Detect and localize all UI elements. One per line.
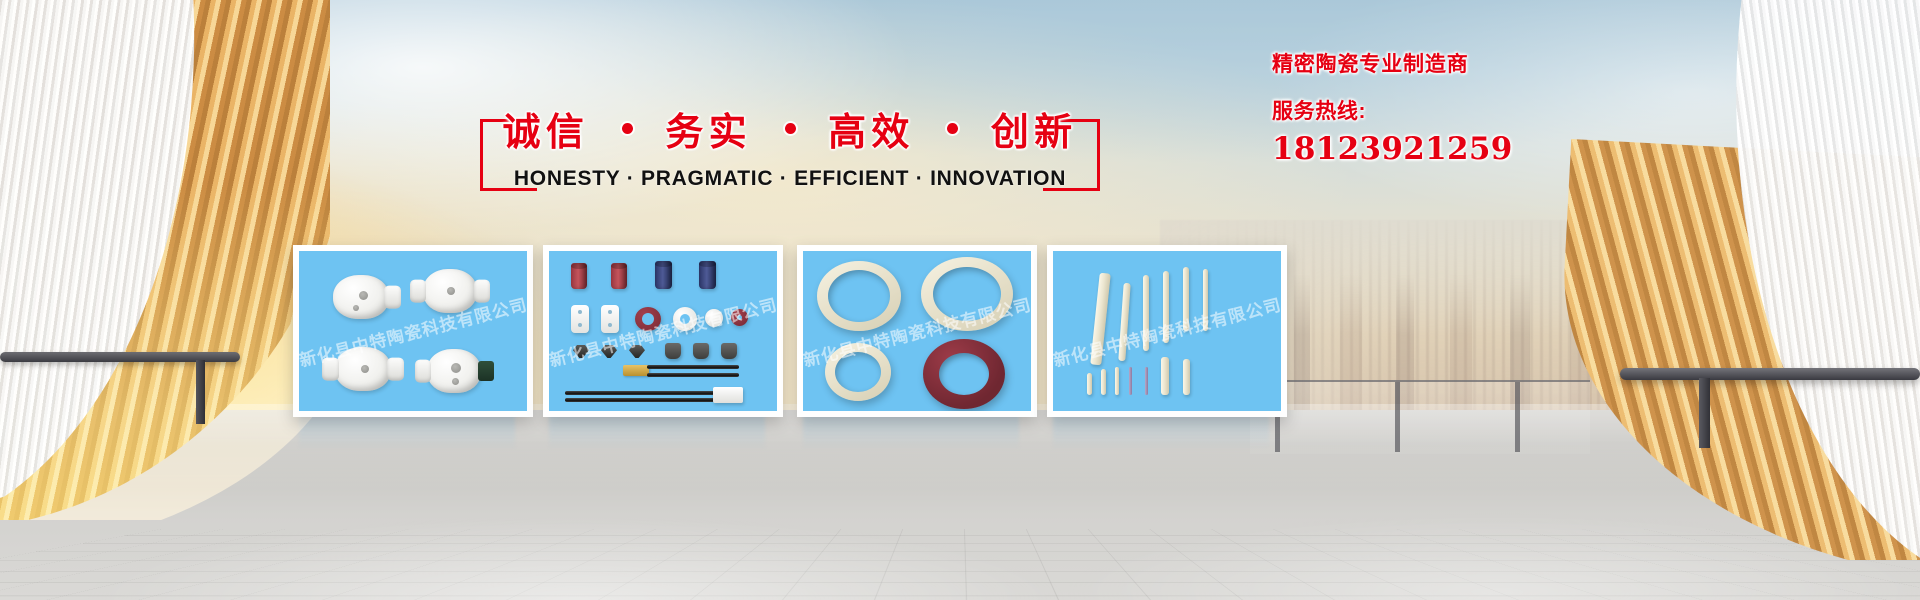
ceramic-rod bbox=[1118, 283, 1130, 361]
ceramic-ring-red bbox=[635, 307, 661, 331]
metal-cap bbox=[721, 343, 737, 359]
ceramic-pin-small bbox=[1087, 373, 1092, 395]
lamp-holder-part bbox=[335, 347, 391, 391]
product-panel-ceramic-rings[interactable]: 新化县中特陶瓷科技有限公司 bbox=[797, 245, 1037, 417]
ceramic-ring-large bbox=[817, 261, 901, 331]
lead-wire bbox=[647, 365, 739, 369]
ceramic-pin-small bbox=[1101, 369, 1106, 395]
ceramic-ring-large bbox=[921, 257, 1013, 331]
brass-terminal bbox=[623, 365, 649, 376]
product-panel-ceramic-lamp-holders[interactable]: 新化县中特陶瓷科技有限公司 bbox=[293, 245, 533, 417]
ceramic-washer-red bbox=[731, 309, 748, 326]
lamp-holder-part bbox=[427, 349, 481, 393]
ceramic-rod-short bbox=[1183, 359, 1190, 395]
ceramic-rod-short bbox=[1161, 357, 1169, 395]
ceramic-ring-maroon bbox=[923, 339, 1005, 409]
ceramic-plate bbox=[571, 305, 589, 333]
ceramic-pin-violet bbox=[1129, 367, 1132, 395]
metal-cap bbox=[665, 343, 681, 359]
metal-clip bbox=[573, 345, 589, 358]
ferrule-blue bbox=[699, 261, 716, 289]
ceramic-pin-small bbox=[1115, 367, 1119, 395]
product-panel-ceramic-ferrules[interactable]: 新化县中特陶瓷科技有限公司 bbox=[543, 245, 783, 417]
lead-wire bbox=[565, 391, 715, 395]
ceramic-washer-white bbox=[705, 309, 723, 327]
ceramic-rod bbox=[1143, 275, 1149, 351]
ceramic-ring-medium bbox=[825, 343, 891, 401]
metal-clip bbox=[601, 345, 617, 358]
lead-wire bbox=[647, 373, 739, 377]
product-panel-ceramic-rods[interactable]: 新化县中特陶瓷科技有限公司 bbox=[1047, 245, 1287, 417]
product-panel-row: 新化县中特陶瓷科技有限公司 bbox=[0, 0, 1920, 600]
metal-cap bbox=[693, 343, 709, 359]
ferrule-red bbox=[571, 263, 587, 289]
metal-clip bbox=[629, 345, 645, 358]
lamp-holder-part bbox=[333, 275, 389, 319]
ceramic-plate bbox=[601, 305, 619, 333]
ceramic-rod-thick bbox=[1090, 273, 1111, 366]
ferrule-blue bbox=[655, 261, 672, 289]
ceramic-rod bbox=[1163, 271, 1169, 343]
ceramic-ring-white bbox=[673, 307, 697, 331]
ceramic-rod bbox=[1203, 269, 1208, 331]
ceramic-pin-violet bbox=[1145, 367, 1148, 395]
ceramic-rod bbox=[1183, 267, 1189, 331]
lead-wire bbox=[565, 398, 715, 402]
lamp-holder-part bbox=[423, 269, 477, 313]
white-connector bbox=[713, 387, 743, 403]
promo-banner: 诚信 务实 高效 创新 HONESTY · PRAGMATIC · EFFICI… bbox=[0, 0, 1920, 600]
ferrule-red bbox=[611, 263, 627, 289]
